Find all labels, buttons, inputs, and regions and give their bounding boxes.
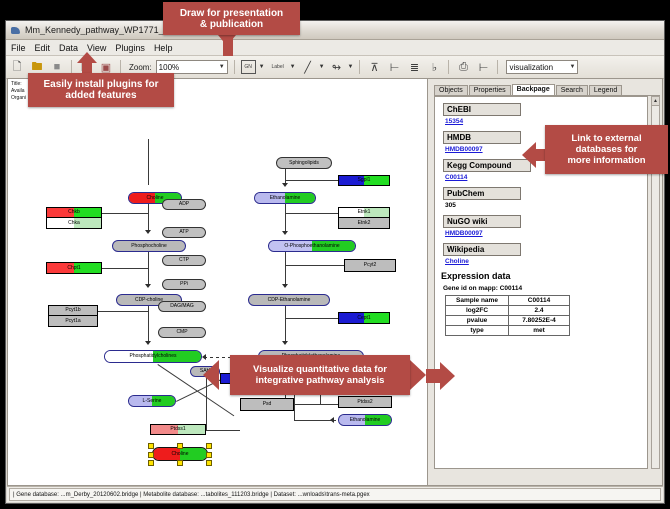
node-ctp[interactable]: CTP [162,255,206,266]
node-label: PPi [180,282,188,287]
table-row: type met [446,326,570,336]
datanode-chevron-down-icon[interactable]: ▼ [259,64,265,70]
gene-chkb[interactable]: Chkb [46,207,102,218]
callout-arrow-right [440,362,455,390]
callout-line-2: added features [65,90,136,101]
stack-icon[interactable]: ≣ [406,59,422,75]
db-header-kegg-compound: Kegg Compound [443,159,531,172]
label-icon[interactable]: Label [269,59,287,75]
tab-search[interactable]: Search [556,85,588,95]
node-label: Chkb [68,210,80,215]
edge [285,265,344,266]
callout-line-2: integrative pathway analysis [256,375,385,386]
align-icon[interactable]: ⊼ [366,59,382,75]
db-link-wikipedia[interactable]: Choline [445,258,647,265]
cell-value: 7.80252E-4 [509,316,570,326]
gene-cept1[interactable]: Cept1 [338,312,390,324]
node-phosphatidylcholines[interactable]: Phosphatidylcholines [104,350,202,363]
status-bar-inner: | Gene database: ...m_Derby_20120602.bri… [9,488,661,501]
callout-arrow-right [410,360,426,390]
gene-ptdss2[interactable]: Ptdss2 [338,396,392,408]
cell-value: 2.4 [509,306,570,316]
selection-handle[interactable] [206,443,212,449]
edge [285,318,338,319]
selection-handle[interactable] [148,460,154,466]
arrow-head [145,341,151,345]
gene-etnk1[interactable]: Etnk1 [338,207,390,218]
node-label: Sphingolipids [289,161,319,166]
node-label: CMP [176,330,187,335]
cell-value: met [509,326,570,336]
node-label: DAG/MAG [170,304,194,309]
arrow-head [282,183,288,187]
callout-visualize-quantitative-data: Visualize quantitative data for integrat… [230,355,410,395]
table-row: log2FC 2.4 [446,306,570,316]
db-link-chebi[interactable]: 15354 [445,118,647,125]
app-icon [10,25,21,36]
edge [98,311,148,312]
node-label: Ethanolamine [270,196,301,201]
node-label: Ethanolamine [350,418,381,423]
zoom-value: 100% [159,63,179,72]
menu-item-help[interactable]: Help [154,43,173,53]
gene-pcyt2[interactable]: Pcyt2 [344,259,396,272]
chevron-down-icon: ▼ [219,64,225,70]
db-link-kegg-compound[interactable]: C00114 [445,174,647,181]
canvas-meta-title: Title: [11,81,26,88]
db-header-wikipedia: Wikipedia [443,243,521,256]
selection-handle[interactable] [206,460,212,466]
node-cmp[interactable]: CMP [158,327,206,338]
node-label: Chpt1 [67,266,80,271]
menu-item-plugins[interactable]: Plugins [115,43,145,53]
callout-line-3: more information [567,155,645,166]
node-label: CDP-Ethanolamine [268,298,311,303]
callout-line-1: Draw for presentation [180,8,283,19]
side-tabs: Objects Properties Backpage Search Legen… [434,82,660,96]
node-label: Cept1 [357,316,370,321]
tab-legend[interactable]: Legend [589,85,622,95]
edge [285,213,338,214]
gene-etnk2[interactable]: Etnk2 [338,218,390,229]
toolbar-separator-1 [71,60,72,74]
selection-handle[interactable] [206,452,212,458]
tab-objects[interactable]: Objects [434,85,468,95]
arrow-head [282,231,288,235]
canvas-meta-availability: Availa [11,88,26,95]
cell-key: pvalue [446,316,509,326]
toolbar-separator-3 [234,60,235,74]
tab-backpage[interactable]: Backpage [512,84,555,95]
edge [294,404,338,405]
node-label: Choline [172,452,189,457]
node-label: Pcyt2 [364,263,377,268]
node-o-phosphoethanolamine[interactable]: O-Phosphoethanolamine [268,240,356,252]
node-label: Psd [263,402,272,407]
cell-value: C00114 [509,296,570,306]
node-label: Etnk2 [358,221,371,226]
gene-ptdss1[interactable]: Ptdss1 [150,424,206,435]
node-label: Choline [147,196,164,201]
node-label: Ptdss1 [170,427,185,432]
node-label: ATP [179,230,188,235]
callout-line-2: databases for [576,144,638,155]
label-chevron-down-icon[interactable]: ▼ [290,64,296,70]
callout-arrow-stem [426,369,440,383]
node-label: Ptdss2 [357,400,372,405]
selection-handle[interactable] [148,443,154,449]
cell-key: type [446,326,509,336]
node-cdp-ethanolamine[interactable]: CDP-Ethanolamine [248,294,330,306]
gene-sgpl1[interactable]: Sgpl1 [338,175,390,186]
node-label: Pcyt1b [65,308,80,313]
callout-draw-for-presentation: Draw for presentation & publication [163,2,300,35]
node-label: Etnk1 [358,210,371,215]
node-label: Pcyt1a [65,319,80,324]
node-label: L-Serine [143,399,162,404]
db-header-chebi: ChEBI [443,103,521,116]
node-l-serine-left[interactable]: L-Serine [128,395,176,407]
menu-item-data[interactable]: Data [59,43,78,53]
db-value-pubchem: 305 [445,202,647,209]
gene-psd[interactable]: Psd [240,398,294,411]
print-icon[interactable]: ⎙ [455,59,471,75]
table-row: Sample name C00114 [446,296,570,306]
arrow-head [282,284,288,288]
gene-pcyt1b[interactable]: Pcyt1b [48,305,98,316]
node-label: Sgpl1 [358,178,371,183]
arrow-head [145,284,151,288]
scroll-up-icon[interactable]: ▲ [652,97,659,106]
node-sphingolipids[interactable]: Sphingolipids [276,157,332,169]
cell-key: log2FC [446,306,509,316]
node-phosphocholine[interactable]: Phosphocholine [112,240,186,252]
edge [102,268,148,269]
visualization-combo[interactable]: visualization ▼ [506,60,578,74]
toolbar-separator-5 [448,60,449,74]
status-bar-text: | Gene database: ...m_Derby_20120602.bri… [13,492,370,498]
status-bar: | Gene database: ...m_Derby_20120602.bri… [7,486,663,502]
callout-easily-install-plugins: Easily install plugins for added feature… [28,73,174,107]
callout-line-1: Easily install plugins for [43,79,158,90]
distribute-icon[interactable]: ♭ [426,59,442,75]
node-label: ADP [179,202,189,207]
node-atp[interactable]: ATP [162,227,206,238]
db-header-pubchem: PubChem [443,187,521,200]
toolbar-separator-4 [359,60,360,74]
selection-handle[interactable] [148,452,154,458]
new-file-icon[interactable]: 🗋 [9,59,25,75]
node-label: Phosphocholine [131,244,167,249]
group-icon[interactable]: ⊢ [386,59,402,75]
title-bar: Mm_Kennedy_pathway_WP1771_45176.gpml [6,21,664,40]
edge [148,139,149,185]
callout-line-2: & publication [200,19,263,30]
expression-table: Sample name C00114 log2FC 2.4 pvalue 7.8… [445,295,570,336]
edge [285,180,338,181]
callout-line-1: Visualize quantitative data for [253,364,387,375]
menu-bar: File Edit Data View Plugins Help [6,40,664,56]
node-choline-selected[interactable]: Choline [152,447,208,461]
node-ethanolamine-bottom[interactable]: Ethanolamine [338,414,392,426]
node-ethanolamine[interactable]: Ethanolamine [254,192,316,204]
anchor-chevron-down-icon[interactable]: ▼ [348,64,354,70]
toolbar-separator-6 [497,60,498,74]
table-row: pvalue 7.80252E-4 [446,316,570,326]
menu-item-file[interactable]: File [11,43,26,53]
visualization-value: visualization [509,63,553,72]
arrow-head [145,230,151,234]
node-dag-mag[interactable]: DAG/MAG [158,301,206,312]
pathway-canvas[interactable]: Title: Availa Organi [7,78,428,486]
node-ppi[interactable]: PPi [162,279,206,290]
zoom-combo[interactable]: 100% ▼ [156,60,228,74]
callout-arrow-stem [223,32,233,56]
line-chevron-down-icon[interactable]: ▼ [319,64,325,70]
gene-pcyt1a[interactable]: Pcyt1a [48,316,98,327]
menu-item-view[interactable]: View [87,43,106,53]
callout-arrow-left [203,360,219,390]
edge [102,213,148,214]
node-adp[interactable]: ADP [162,199,206,210]
expression-data-title: Expression data [441,271,647,281]
datanode-icon[interactable]: GN [241,60,256,74]
node-label: CTP [179,258,189,263]
arrow-head [330,417,334,423]
db-header-hmdb: HMDB [443,131,521,144]
gene-chka[interactable]: Chka [46,218,102,229]
zoom-label: Zoom: [129,63,152,72]
arrow-head [282,341,288,345]
menu-item-edit[interactable]: Edit [35,43,51,53]
screenshot-root: Mm_Kennedy_pathway_WP1771_45176.gpml Fil… [0,0,670,509]
selection-handle[interactable] [177,443,183,449]
anchor-icon[interactable]: ↬ [329,59,345,75]
gene-id-on-mapp: Gene id on mapp: C00114 [443,285,647,292]
selection-handle[interactable] [177,460,183,466]
node-label: Chka [68,221,80,226]
line-icon[interactable]: ╱ [300,59,316,75]
canvas-meta-organism: Organi [11,95,26,102]
node-label: O-Phosphoethanolamine [284,244,339,249]
node-label: CDP-choline [135,298,163,303]
edge [206,430,240,431]
canvas-meta: Title: Availa Organi [11,81,26,102]
toolbar-separator-2 [120,60,121,74]
node-label: Phosphatidylcholines [130,354,177,359]
db-link-nugo-wiki[interactable]: HMDB00097 [445,230,647,237]
db-header-nugo-wiki: NuGO wiki [443,215,521,228]
cell-key: Sample name [446,296,509,306]
gene-chpt1[interactable]: Chpt1 [46,262,102,274]
tab-properties[interactable]: Properties [469,85,511,95]
order-icon[interactable]: ⊢ [475,59,491,75]
visualization-chevron-down-icon: ▼ [570,64,576,70]
callout-line-1: Link to external [571,133,641,144]
callout-link-to-external-databases: Link to external databases for more info… [545,125,668,174]
